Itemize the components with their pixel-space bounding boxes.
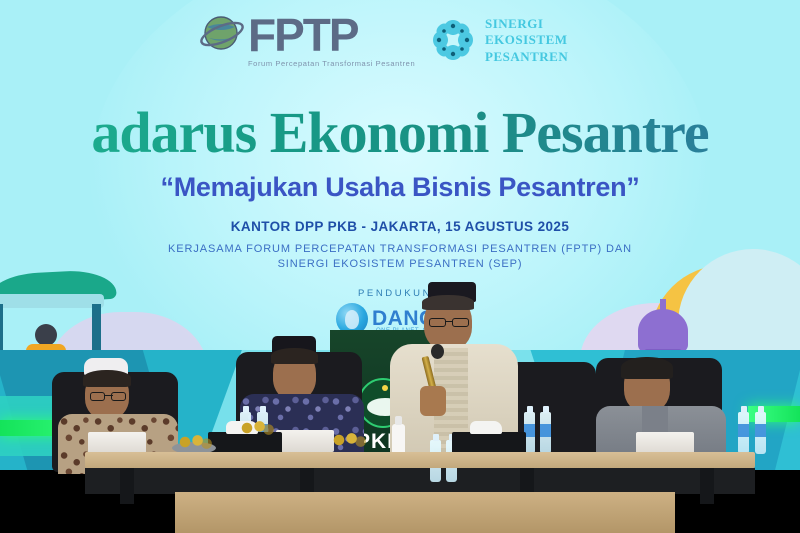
pavilion-roof-band bbox=[0, 294, 104, 308]
panelist-1-head bbox=[85, 371, 129, 419]
table-leg-4 bbox=[700, 468, 714, 504]
table-shadow bbox=[85, 468, 755, 494]
organizer-line-1: KERJASAMA FORUM PERCEPATAN TRANSFORMASI … bbox=[168, 243, 632, 255]
sep-line-2: EKOSISTEM bbox=[485, 32, 568, 48]
speaker-head bbox=[424, 296, 472, 350]
cartoon-person-head bbox=[35, 324, 57, 346]
water-bottle-6 bbox=[540, 412, 551, 454]
glasses-lens-right bbox=[111, 392, 126, 401]
floral-cluster-icon bbox=[430, 17, 476, 63]
event-venue-line: KANTOR DPP PKB - JAKARTA, 15 AGUSTUS 202… bbox=[231, 219, 569, 234]
table-front-panel bbox=[175, 492, 675, 533]
glasses-icon-speaker bbox=[427, 318, 471, 327]
panelist-2-hair bbox=[271, 348, 318, 364]
sep-line-3: PESANTREN bbox=[485, 49, 568, 65]
microphone-head-icon bbox=[431, 344, 444, 359]
tissue-box-2 bbox=[452, 432, 526, 454]
sep-logo: SINERGI EKOSISTEM PESANTREN bbox=[430, 16, 568, 65]
snack-pile bbox=[176, 434, 212, 450]
panelist-1-hair bbox=[83, 370, 131, 387]
lantern-dome bbox=[638, 309, 688, 353]
glasses-icon bbox=[88, 392, 128, 401]
globe-icon bbox=[198, 14, 246, 58]
fptp-wordmark: FPTP bbox=[248, 14, 415, 58]
event-photo-stage: FPTP Forum Percepatan Transformasi Pesan… bbox=[0, 0, 800, 533]
snack-pile-2 bbox=[238, 420, 274, 436]
glasses-lens-left bbox=[429, 318, 446, 327]
organizer-line-2: SINERGI EKOSISTEM PESANTREN (SEP) bbox=[278, 258, 523, 270]
panelist-4-head bbox=[624, 360, 670, 412]
event-subheadline: “Memajukan Usaha Bisnis Pesantren” bbox=[161, 172, 640, 203]
snack-pile-3 bbox=[330, 432, 366, 448]
sep-line-1: SINERGI bbox=[485, 16, 568, 32]
nameplate-0 bbox=[88, 432, 146, 454]
speaker-hand bbox=[420, 386, 446, 416]
nameplate-1 bbox=[276, 430, 334, 452]
table-surface bbox=[85, 452, 755, 468]
water-bottle-8 bbox=[755, 412, 766, 454]
water-bottle-7 bbox=[738, 412, 749, 454]
sep-wordmark: SINERGI EKOSISTEM PESANTREN bbox=[485, 16, 568, 65]
event-headline: adarus Ekonomi Pesantre bbox=[91, 99, 708, 166]
fptp-logo: FPTP Forum Percepatan Transformasi Pesan… bbox=[198, 14, 415, 68]
table-leg-1 bbox=[120, 468, 134, 504]
pkb-star-icon bbox=[382, 385, 388, 391]
panelist-2-head bbox=[273, 350, 316, 400]
panelist-4-hair bbox=[621, 357, 673, 379]
fptp-tagline: Forum Percepatan Transformasi Pesantren bbox=[248, 59, 415, 68]
glasses-lens-left bbox=[90, 392, 105, 401]
glasses-lens-right bbox=[452, 318, 469, 327]
nameplate-3 bbox=[636, 432, 694, 454]
speaker-hair bbox=[422, 295, 474, 310]
logo-row: FPTP Forum Percepatan Transformasi Pesan… bbox=[0, 6, 800, 76]
